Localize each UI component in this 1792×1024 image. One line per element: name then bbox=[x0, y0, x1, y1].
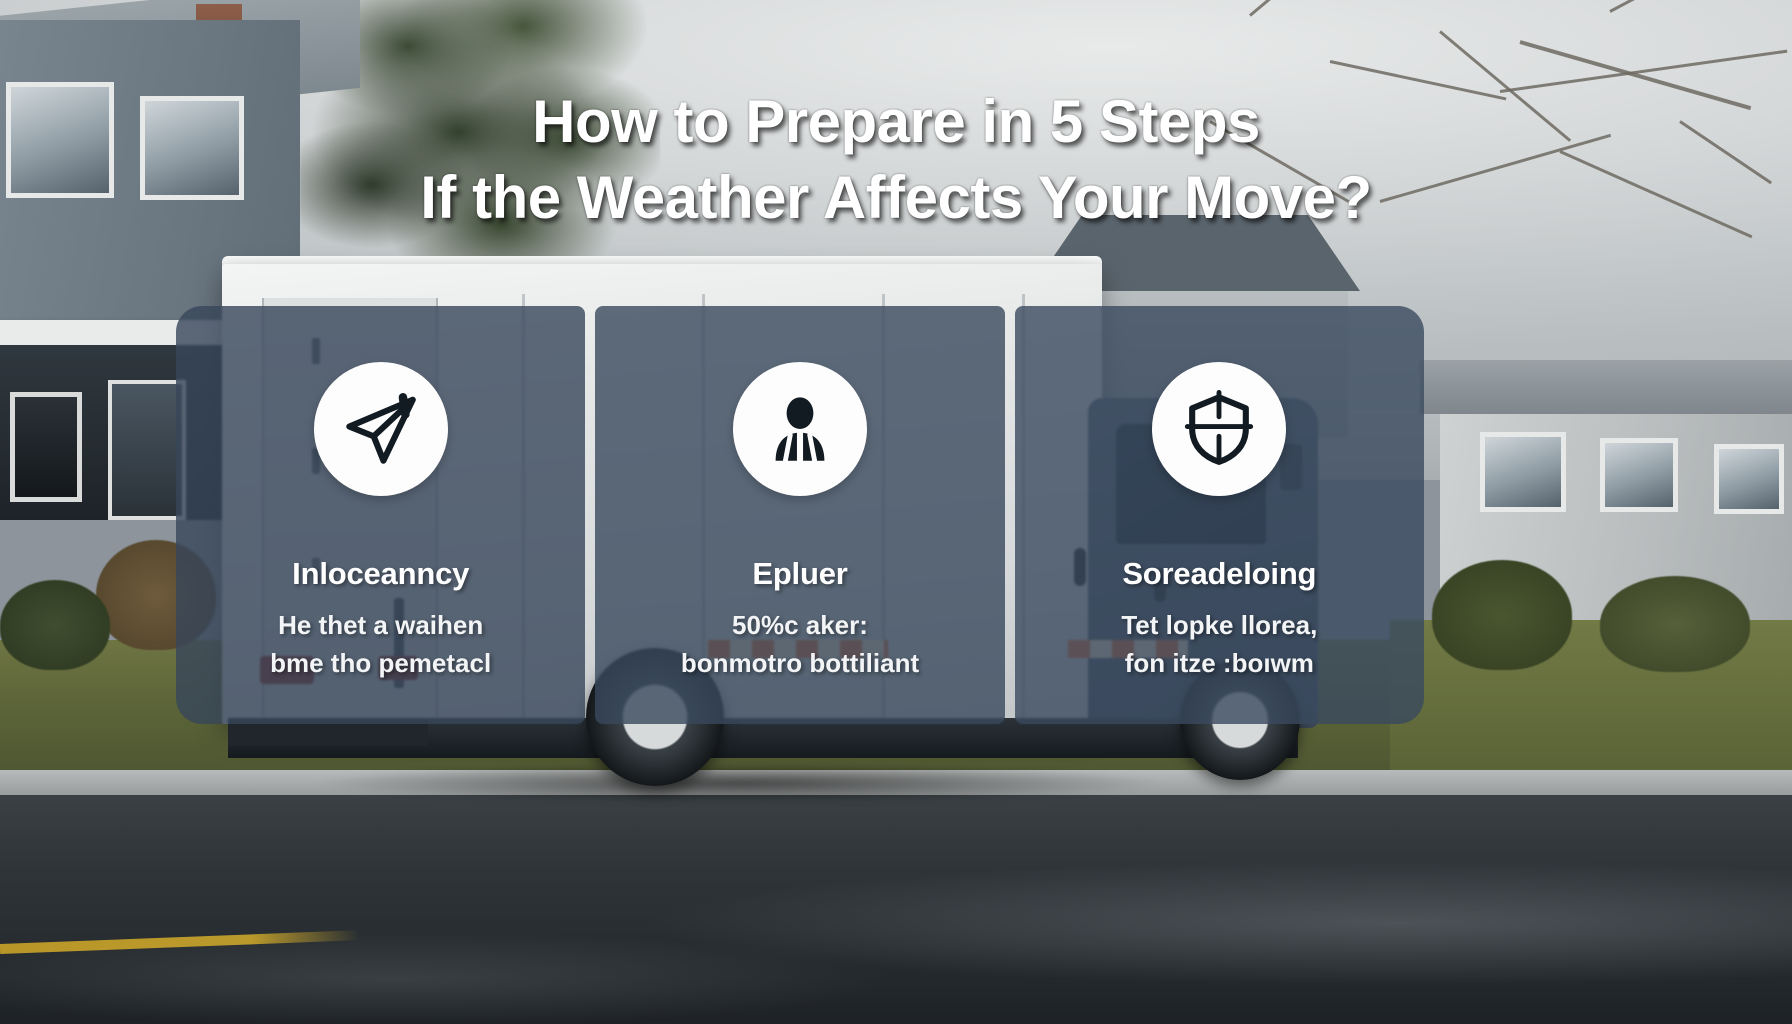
feature-card-3-title: Soreadeloing bbox=[1122, 556, 1316, 592]
feature-card-1-body-line-1: He thet a waihen bbox=[270, 606, 491, 644]
feature-card-1-body-line-2: bme tho pemetacl bbox=[270, 644, 491, 682]
feature-card-3-body-line-2: fon itze :boıwm bbox=[1121, 644, 1317, 682]
window bbox=[1600, 438, 1678, 512]
feature-card-3[interactable]: Soreadeloing Tet lopke llorea, fon itze … bbox=[1015, 306, 1424, 724]
headline-line-2: If the Weather Affects Your Move? bbox=[140, 160, 1652, 236]
feature-card-2[interactable]: Epluer 50%c aker: bonmotro bottiliant bbox=[595, 306, 1004, 724]
feature-card-row: Inloceanncy He thet a waihen bme tho pem… bbox=[176, 306, 1424, 724]
promo-graphic-stage: How to Prepare in 5 Steps If the Weather… bbox=[0, 0, 1792, 1024]
feature-card-1-body: He thet a waihen bme tho pemetacl bbox=[252, 606, 509, 682]
shrub bbox=[1432, 560, 1572, 670]
feature-card-2-body-line-1: 50%c aker: bbox=[681, 606, 919, 644]
feature-card-2-body-line-2: bonmotro bottiliant bbox=[681, 644, 919, 682]
wet-road-reflection bbox=[0, 800, 1792, 1024]
feature-card-1-title: Inloceanncy bbox=[292, 556, 469, 592]
window bbox=[1714, 444, 1784, 514]
headline-line-1: How to Prepare in 5 Steps bbox=[532, 88, 1260, 155]
person-icon bbox=[733, 362, 867, 496]
window bbox=[10, 392, 82, 502]
paper-plane-icon bbox=[314, 362, 448, 496]
feature-card-2-body: 50%c aker: bonmotro bottiliant bbox=[663, 606, 937, 682]
feature-card-3-body: Tet lopke llorea, fon itze :boıwm bbox=[1103, 606, 1335, 682]
feature-card-3-body-line-1: Tet lopke llorea, bbox=[1121, 606, 1317, 644]
shrub bbox=[0, 580, 110, 670]
front-door bbox=[108, 380, 186, 520]
headline: How to Prepare in 5 Steps If the Weather… bbox=[0, 84, 1792, 236]
feature-card-2-title: Epluer bbox=[752, 556, 847, 592]
shrub bbox=[1600, 576, 1750, 672]
feature-card-1[interactable]: Inloceanncy He thet a waihen bme tho pem… bbox=[176, 306, 585, 724]
window bbox=[1480, 432, 1566, 512]
shield-icon bbox=[1152, 362, 1286, 496]
